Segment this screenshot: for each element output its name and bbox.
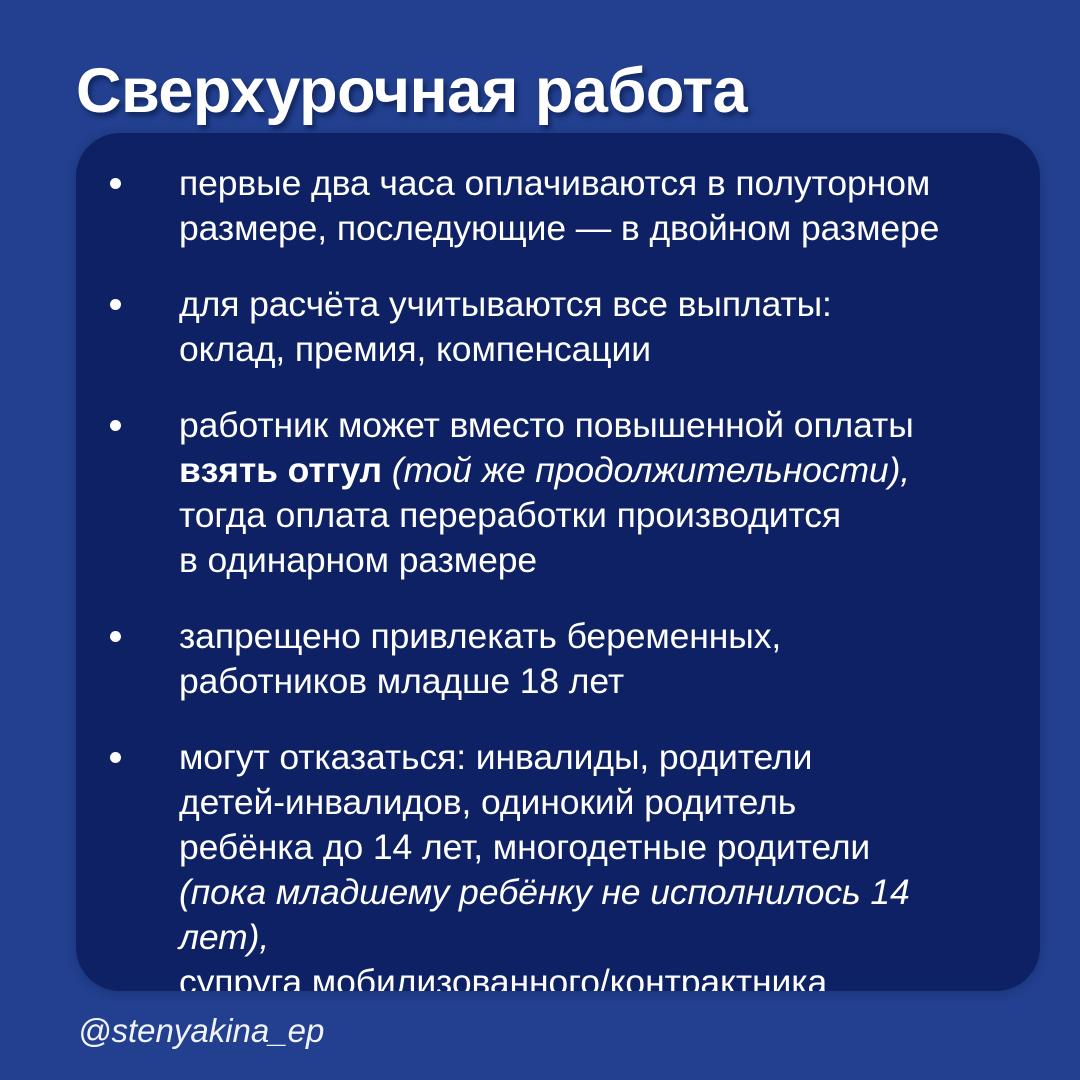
text-segment-regular: размере, последующие — в двойном размере [179,208,939,248]
bullet-dot-icon [110,752,121,763]
text-segment-regular: детей-инвалидов, одинокий родитель [179,782,796,822]
text-segment-regular: оклад, премия, компенсации [179,329,651,369]
bullet-line: первые два часа оплачиваются в полуторно… [179,161,1006,206]
bullet-text: запрещено привлекать беременных,работник… [179,614,1006,704]
text-segment-regular: тогда оплата переработки производится [179,495,841,535]
text-segment-italic: (той же продолжительности), [392,450,910,490]
page-title: Сверхурочная работа [76,54,1016,128]
bullet-item-may-refuse-categories: могут отказаться: инвалиды, родителидете… [110,735,1006,991]
text-segment-bold: взять отгул [179,450,392,490]
bullet-line: ребёнка до 14 лет, многодетные родители [179,825,1006,870]
bullet-item-overtime-rate: первые два часа оплачиваются в полуторно… [110,161,1006,251]
infographic-poster: Сверхурочная работа первые два часа опла… [0,0,1080,1080]
bullet-text: работник может вместо повышенной оплатыв… [179,403,1006,583]
bullet-line: тогда оплата переработки производится [179,493,1006,538]
bullet-text: могут отказаться: инвалиды, родителидете… [179,735,1006,991]
bullet-list: первые два часа оплачиваются в полуторно… [110,161,1006,991]
text-segment-regular: в одинарном размере [179,540,537,580]
bullet-line: (пока младшему ребёнку не исполнилось 14… [179,870,1006,960]
bullet-dot-icon [110,631,121,642]
bullet-line: работников младше 18 лет [179,659,1006,704]
text-segment-regular: для расчёта учитываются все выплаты: [179,284,832,324]
text-segment-regular: могут отказаться: инвалиды, родители [179,737,812,777]
text-segment-regular: работников младше 18 лет [179,661,624,701]
text-segment-regular: супруга мобилизованного/контрактника [179,962,827,991]
text-segment-regular: запрещено привлекать беременных, [179,616,781,656]
text-segment-regular: ребёнка до 14 лет, многодетные родители [179,827,870,867]
bullet-dot-icon [110,178,121,189]
content-card: первые два часа оплачиваются в полуторно… [76,133,1040,991]
bullet-line: могут отказаться: инвалиды, родители [179,735,1006,780]
bullet-text: первые два часа оплачиваются в полуторно… [179,161,1006,251]
bullet-item-time-off-option: работник может вместо повышенной оплатыв… [110,403,1006,583]
bullet-line: детей-инвалидов, одинокий родитель [179,780,1006,825]
bullet-dot-icon [110,299,121,310]
text-segment-italic: (пока младшему ребёнку не исполнилось 14… [179,872,910,957]
bullet-line: работник может вместо повышенной оплаты [179,403,1006,448]
bullet-item-calculation-basis: для расчёта учитываются все выплаты:окла… [110,282,1006,372]
text-segment-regular: первые два часа оплачиваются в полуторно… [179,163,930,203]
bullet-line: оклад, премия, компенсации [179,327,1006,372]
bullet-line: размере, последующие — в двойном размере [179,206,1006,251]
bullet-item-prohibited-categories: запрещено привлекать беременных,работник… [110,614,1006,704]
bullet-line: супруга мобилизованного/контрактника [179,960,1006,991]
bullet-dot-icon [110,420,121,431]
bullet-line: запрещено привлекать беременных, [179,614,1006,659]
bullet-line: взять отгул (той же продолжительности), [179,448,1006,493]
text-segment-regular: работник может вместо повышенной оплаты [179,405,914,445]
bullet-text: для расчёта учитываются все выплаты:окла… [179,282,1006,372]
bullet-line: в одинарном размере [179,538,1006,583]
bullet-line: для расчёта учитываются все выплаты: [179,282,1006,327]
author-handle: @stenyakina_ep [78,1012,324,1050]
